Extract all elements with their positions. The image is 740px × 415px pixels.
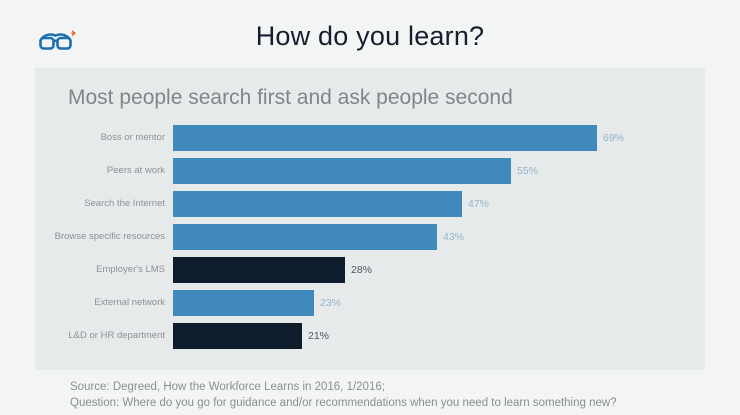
bar-row: Boss or mentor69%	[35, 125, 705, 151]
page-title: How do you learn?	[0, 21, 740, 52]
bar-row: Search the Internet47%	[35, 191, 705, 217]
bar-category-label: External network	[35, 290, 165, 316]
bar-fill[interactable]	[173, 290, 314, 316]
bar-fill[interactable]	[173, 323, 302, 349]
bar-track: 23%	[173, 290, 695, 316]
bar-fill[interactable]	[173, 125, 597, 151]
chart-subtitle: Most people search first and ask people …	[68, 86, 513, 110]
bar-value-label: 69%	[603, 125, 624, 151]
bar-category-label: Search the Internet	[35, 191, 165, 217]
slide-footer: Source: Degreed, How the Workforce Learn…	[70, 379, 730, 411]
bar-track: 28%	[173, 257, 695, 283]
bar-row: Browse specific resources43%	[35, 224, 705, 250]
bar-row: External network23%	[35, 290, 705, 316]
bar-category-label: Browse specific resources	[35, 224, 165, 250]
bar-track: 47%	[173, 191, 695, 217]
bar-value-label: 21%	[308, 323, 329, 349]
bar-chart-plot: Boss or mentor69%Peers at work55%Search …	[35, 125, 705, 357]
bar-category-label: Boss or mentor	[35, 125, 165, 151]
bar-fill[interactable]	[173, 158, 511, 184]
bar-track: 69%	[173, 125, 695, 151]
bar-category-label: Peers at work	[35, 158, 165, 184]
bar-fill[interactable]	[173, 257, 345, 283]
bar-fill[interactable]	[173, 224, 437, 250]
footer-source-line: Source: Degreed, How the Workforce Learn…	[70, 379, 730, 395]
bar-value-label: 28%	[351, 257, 372, 283]
bar-row: Peers at work55%	[35, 158, 705, 184]
bar-category-label: L&D or HR department	[35, 323, 165, 349]
bar-value-label: 23%	[320, 290, 341, 316]
bar-fill[interactable]	[173, 191, 462, 217]
bar-track: 55%	[173, 158, 695, 184]
slide-header: How do you learn?	[0, 0, 740, 68]
chart-panel: Most people search first and ask people …	[35, 68, 705, 370]
bar-value-label: 55%	[517, 158, 538, 184]
bar-row: Employer's LMS28%	[35, 257, 705, 283]
footer-question-line: Question: Where do you go for guidance a…	[70, 395, 730, 411]
bar-track: 43%	[173, 224, 695, 250]
bar-category-label: Employer's LMS	[35, 257, 165, 283]
bar-value-label: 43%	[443, 224, 464, 250]
bar-value-label: 47%	[468, 191, 489, 217]
bar-track: 21%	[173, 323, 695, 349]
bar-row: L&D or HR department21%	[35, 323, 705, 349]
